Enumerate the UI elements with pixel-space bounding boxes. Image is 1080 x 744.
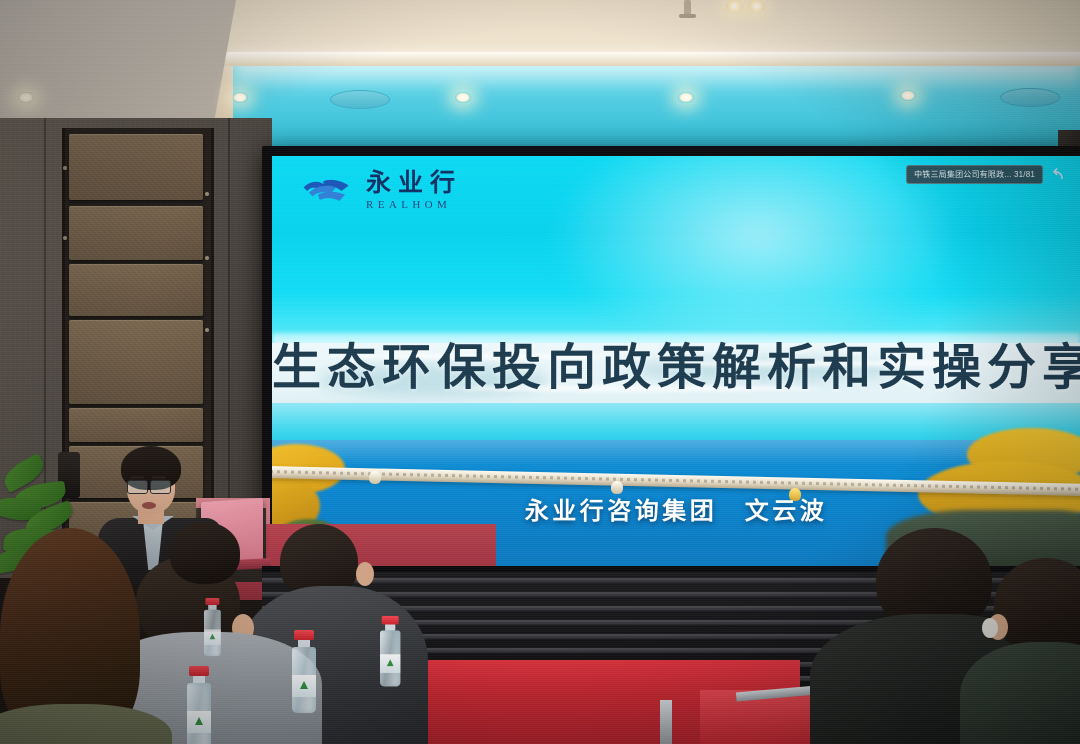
overlay-label-text: 中铁三局集团公司有限政... 31/81 [914, 169, 1035, 180]
water-bottle-1 [292, 630, 316, 713]
ceiling-spotlight-pair [724, 0, 768, 14]
chair-leg [660, 700, 672, 744]
slide-title: 生态环保投向政策解析和实操分享 [272, 328, 1080, 399]
led-screen[interactable]: 永业行 REALHOM 中铁三局集团公司有限政... 31/81 生态环保投向政… [272, 156, 1080, 568]
screen-overlay-badge[interactable]: 中铁三局集团公司有限政... 31/81 [906, 165, 1066, 184]
acoustic-panel-4 [69, 320, 203, 404]
brand-chinese-name: 永业行 [366, 170, 462, 195]
audience-body [960, 642, 1080, 744]
acoustic-panel-1 [69, 134, 203, 200]
water-bottle-2 [187, 666, 211, 744]
conference-photo-scene: 永业行 REALHOM 中铁三局集团公司有限政... 31/81 生态环保投向政… [0, 0, 1080, 744]
presenter-mouth [142, 502, 156, 509]
soffit-edge [180, 52, 1080, 66]
panel-screw-2 [63, 236, 67, 240]
ceiling-vent-1 [330, 90, 390, 109]
audience-body [0, 704, 172, 744]
back-arrow-icon[interactable] [1050, 167, 1066, 183]
ceiling-vent-2 [1000, 88, 1060, 107]
downlight-5 [900, 90, 916, 101]
panel-screw-4 [205, 256, 209, 260]
panel-screw-5 [205, 328, 209, 332]
audience-member-6 [960, 558, 1080, 744]
audience-head [994, 558, 1080, 654]
sprinkler-head [684, 0, 691, 16]
slide-subtitle: 永业行咨询集团 文云波 [272, 491, 1080, 526]
presenter-glasses-left [127, 480, 148, 494]
ceiling-inner-plane [185, 0, 1080, 60]
panel-screw-1 [63, 166, 67, 170]
face-mask-strap [982, 618, 998, 638]
causeway-pier-1 [369, 471, 381, 484]
downlight-2 [232, 92, 248, 103]
downlight-4 [678, 92, 694, 103]
yh-monogram-logo [300, 173, 354, 209]
water-bottle-3 [380, 616, 400, 687]
acoustic-panel-5 [69, 408, 203, 442]
audience-member-1 [0, 528, 166, 744]
slide-lake-sheen [272, 440, 1080, 465]
audience-head [170, 522, 240, 584]
slide-shallow-water [272, 403, 1080, 444]
presenter-glasses-right [150, 480, 171, 494]
slide-brand-lockup: 永业行 REALHOM [300, 170, 462, 211]
panel-screw-3 [205, 192, 209, 196]
brand-english-name: REALHOM [366, 200, 462, 211]
overlay-label-pill[interactable]: 中铁三局集团公司有限政... 31/81 [906, 165, 1043, 184]
acoustic-panel-2 [69, 206, 203, 260]
water-bottle-4 [204, 598, 221, 656]
acoustic-panel-3 [69, 264, 203, 316]
downlight-1 [18, 92, 34, 103]
downlight-3 [455, 92, 471, 103]
audience-ear [356, 562, 374, 586]
